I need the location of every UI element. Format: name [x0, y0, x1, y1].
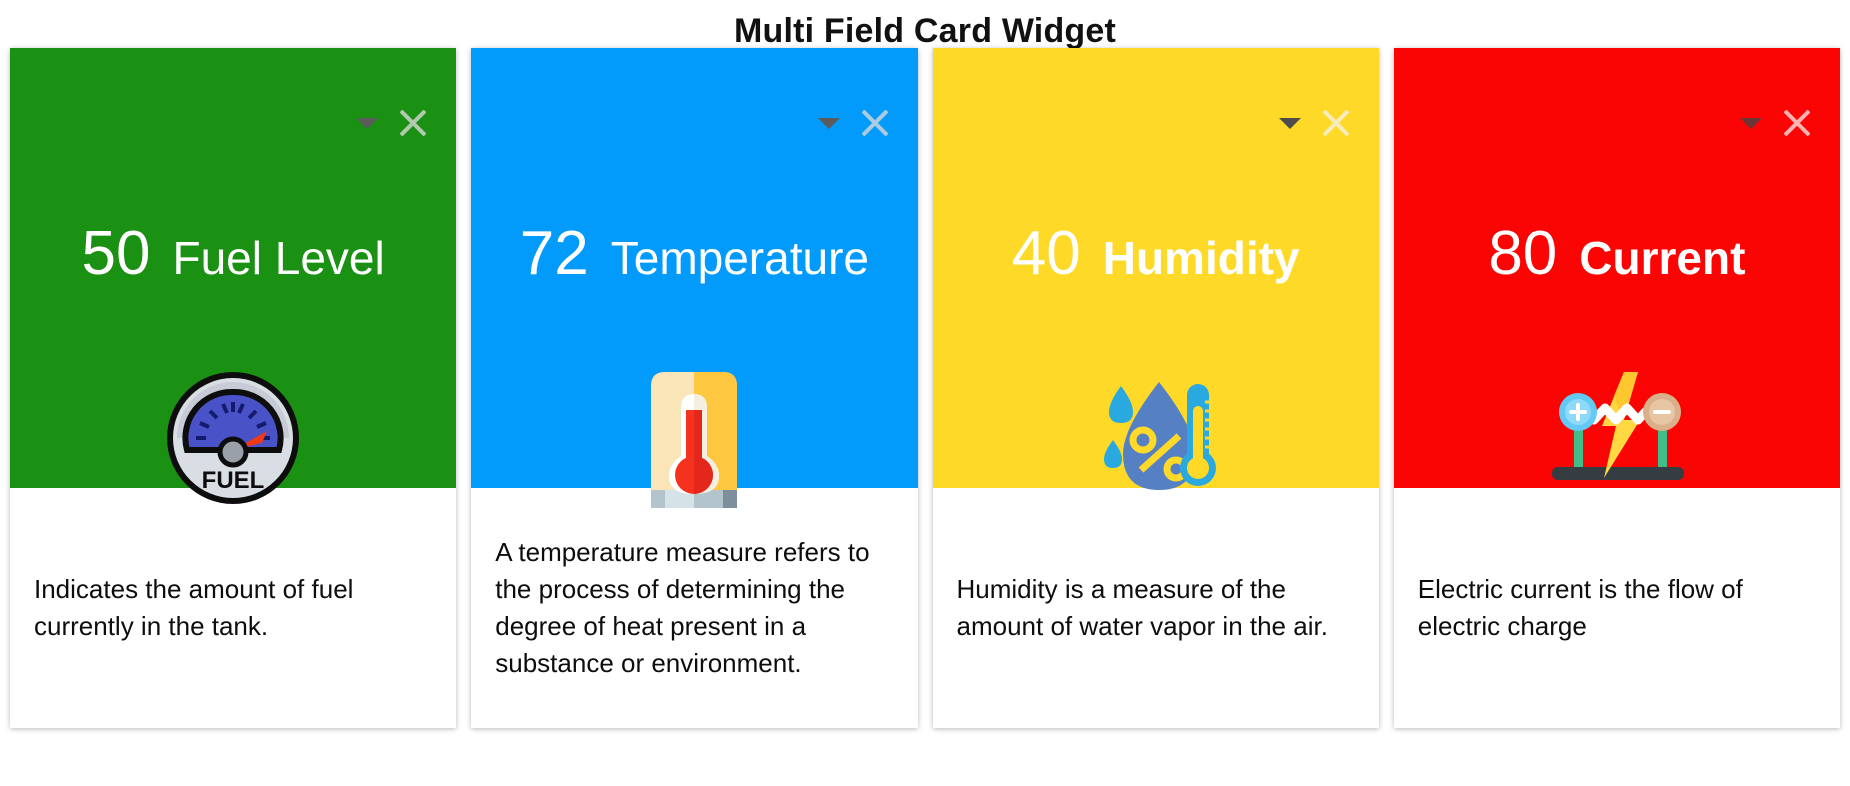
- card-label: Temperature: [611, 235, 869, 281]
- fuel-gauge-icon: FUEL: [163, 368, 303, 508]
- page-title: Multi Field Card Widget: [0, 0, 1850, 48]
- card-value: 50: [82, 223, 151, 285]
- card-actions-current: [1740, 106, 1814, 140]
- card-header-temperature: 72 Temperature: [471, 48, 917, 488]
- card-headline-fuel-level: 50 Fuel Level: [10, 223, 456, 285]
- card-value: 72: [520, 223, 589, 285]
- svg-text:FUEL: FUEL: [202, 467, 265, 494]
- card-header-fuel-level: 50 Fuel Level: [10, 48, 456, 488]
- card-label: Fuel Level: [172, 235, 384, 281]
- card-body-current: Electric current is the flow of electric…: [1394, 488, 1840, 728]
- electric-current-icon: [1542, 368, 1692, 488]
- card-body-humidity: Humidity is a measure of the amount of w…: [933, 488, 1379, 728]
- card-header-current: 80 Current: [1394, 48, 1840, 488]
- chevron-down-icon[interactable]: [818, 118, 840, 129]
- card-headline-temperature: 72 Temperature: [471, 223, 917, 285]
- card-label: Current: [1579, 235, 1745, 281]
- card-icon-wrap-humidity: [933, 368, 1379, 496]
- card-actions-humidity: [1279, 106, 1353, 140]
- card-actions-fuel-level: [356, 106, 430, 140]
- card-temperature[interactable]: 72 Temperature A: [471, 48, 917, 728]
- chevron-down-icon[interactable]: [1279, 118, 1301, 129]
- card-description: Electric current is the flow of electric…: [1418, 571, 1816, 645]
- card-value: 40: [1012, 223, 1081, 285]
- card-grid: 50 Fuel Level: [0, 48, 1850, 728]
- chevron-down-icon[interactable]: [1740, 118, 1762, 129]
- card-icon-wrap-temperature: [471, 368, 917, 518]
- humidity-drop-icon: [1091, 368, 1221, 496]
- card-description: Humidity is a measure of the amount of w…: [957, 571, 1355, 645]
- card-value: 80: [1488, 223, 1557, 285]
- card-icon-wrap-current: [1394, 368, 1840, 488]
- card-actions-temperature: [818, 106, 892, 140]
- card-current[interactable]: 80 Current: [1394, 48, 1840, 728]
- card-fuel-level[interactable]: 50 Fuel Level: [10, 48, 456, 728]
- card-label: Humidity: [1103, 235, 1300, 281]
- card-description: A temperature measure refers to the proc…: [495, 534, 893, 682]
- thermometer-icon: [639, 368, 749, 518]
- close-icon[interactable]: [858, 106, 892, 140]
- card-body-fuel-level: Indicates the amount of fuel currently i…: [10, 488, 456, 728]
- card-icon-wrap-fuel-level: FUEL: [10, 368, 456, 508]
- card-header-humidity: 40 Humidity: [933, 48, 1379, 488]
- close-icon[interactable]: [1319, 106, 1353, 140]
- card-headline-humidity: 40 Humidity: [933, 223, 1379, 285]
- card-humidity[interactable]: 40 Humidity: [933, 48, 1379, 728]
- close-icon[interactable]: [1780, 106, 1814, 140]
- card-body-temperature: A temperature measure refers to the proc…: [471, 488, 917, 728]
- close-icon[interactable]: [396, 106, 430, 140]
- chevron-down-icon[interactable]: [356, 118, 378, 129]
- card-description: Indicates the amount of fuel currently i…: [34, 571, 432, 645]
- card-headline-current: 80 Current: [1394, 223, 1840, 285]
